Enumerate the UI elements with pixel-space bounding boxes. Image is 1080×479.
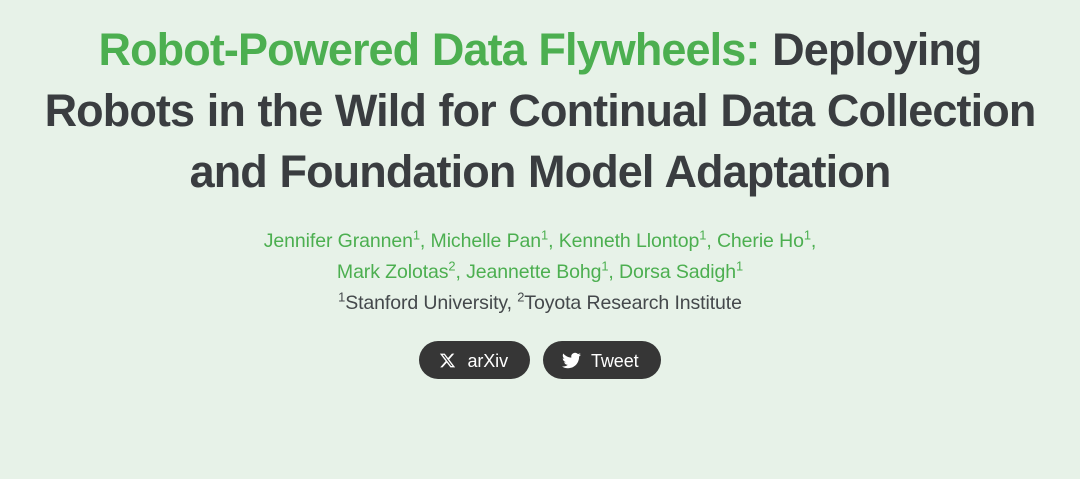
author-separator: , bbox=[548, 230, 559, 252]
affiliation-name: Toyota Research Institute bbox=[524, 292, 742, 314]
author-name: Kenneth Llontop bbox=[559, 230, 700, 252]
author-name: Cherie Ho bbox=[717, 230, 804, 252]
author-name: Mark Zolotas bbox=[337, 261, 449, 283]
affiliation-name: Stanford University bbox=[345, 292, 506, 314]
tweet-button-label: Tweet bbox=[591, 352, 639, 370]
title-block: Robot-Powered Data Flywheels: Deploying … bbox=[35, 19, 1045, 202]
author-separator: , bbox=[811, 230, 816, 252]
author-separator: , bbox=[706, 230, 717, 252]
author-affil-marker: 1 bbox=[736, 259, 743, 274]
author-name: Michelle Pan bbox=[431, 230, 541, 252]
author-name: Dorsa Sadigh bbox=[619, 261, 736, 283]
author-name: Jennifer Grannen bbox=[264, 230, 413, 252]
author-separator: , bbox=[420, 230, 431, 252]
author-name: Jeannette Bohg bbox=[466, 261, 601, 283]
link-button-group: arXiv Tweet bbox=[419, 341, 660, 379]
author-line-2: Mark Zolotas2, Jeannette Bohg1, Dorsa Sa… bbox=[264, 257, 816, 288]
author-line-1: Jennifer Grannen1, Michelle Pan1, Kennet… bbox=[264, 226, 816, 257]
page-title-highlight: Robot-Powered Data Flywheels: bbox=[98, 24, 759, 75]
author-list: Jennifer Grannen1, Michelle Pan1, Kennet… bbox=[264, 226, 816, 288]
author-affil-marker: 1 bbox=[541, 228, 548, 243]
x-logo-icon bbox=[438, 351, 457, 370]
author-affil-marker: 1 bbox=[804, 228, 811, 243]
author-separator: , bbox=[608, 261, 619, 283]
page-title: Robot-Powered Data Flywheels: Deploying … bbox=[35, 19, 1045, 202]
paper-hero-banner: Robot-Powered Data Flywheels: Deploying … bbox=[0, 0, 1080, 479]
arxiv-button-label: arXiv bbox=[467, 352, 508, 370]
affiliation-list: 1Stanford University, 2Toyota Research I… bbox=[338, 288, 742, 318]
tweet-button[interactable]: Tweet bbox=[543, 341, 661, 379]
arxiv-button[interactable]: arXiv bbox=[419, 341, 530, 379]
affiliation-separator: , bbox=[507, 292, 518, 314]
author-affil-marker: 1 bbox=[413, 228, 420, 243]
author-separator: , bbox=[455, 261, 466, 283]
twitter-bird-icon bbox=[562, 351, 581, 370]
